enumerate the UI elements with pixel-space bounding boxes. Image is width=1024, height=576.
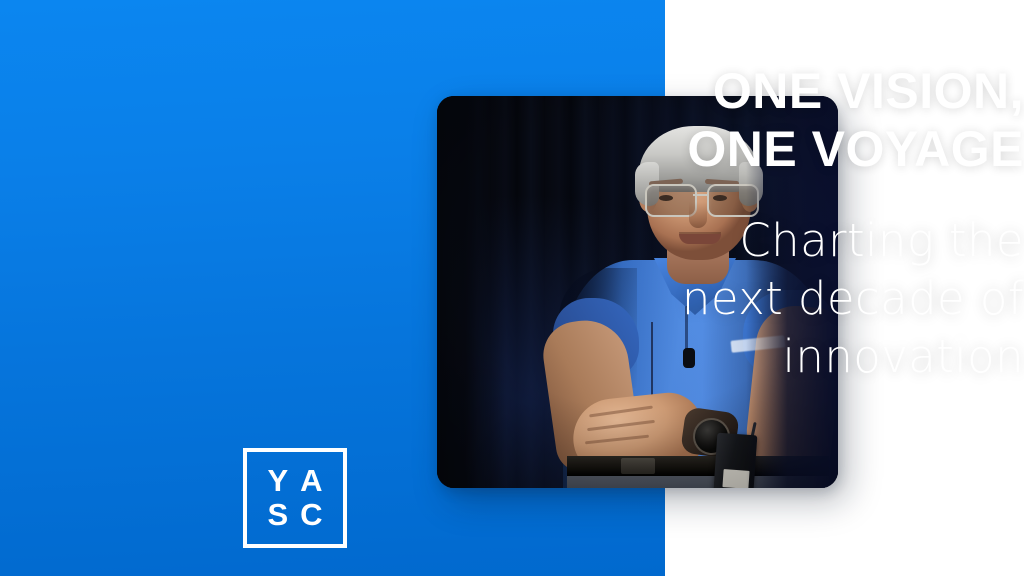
subtitle-line-1: Charting the [404, 212, 1024, 270]
yasc-logo: Y A S C [243, 448, 347, 548]
page-subtitle: Charting the next decade of innovation [404, 212, 1024, 386]
logo-letter-y: Y [267, 464, 288, 498]
title-line-2: ONE VOYAGE [404, 120, 1024, 178]
logo-row-bottom: S C [267, 498, 322, 532]
logo-letter-a: A [300, 464, 322, 498]
page-title: ONE VISION, ONE VOYAGE [404, 62, 1024, 178]
title-line-1: ONE VISION, [404, 62, 1024, 120]
logo-row-top: Y A [267, 464, 322, 498]
logo-letter-c: C [300, 498, 322, 532]
subtitle-line-2: next decade of [404, 270, 1024, 328]
slide-canvas: ONE VISION, ONE VOYAGE Charting the next… [0, 0, 1024, 576]
logo-letter-s: S [267, 498, 288, 532]
subtitle-line-3: innovation [404, 328, 1024, 386]
